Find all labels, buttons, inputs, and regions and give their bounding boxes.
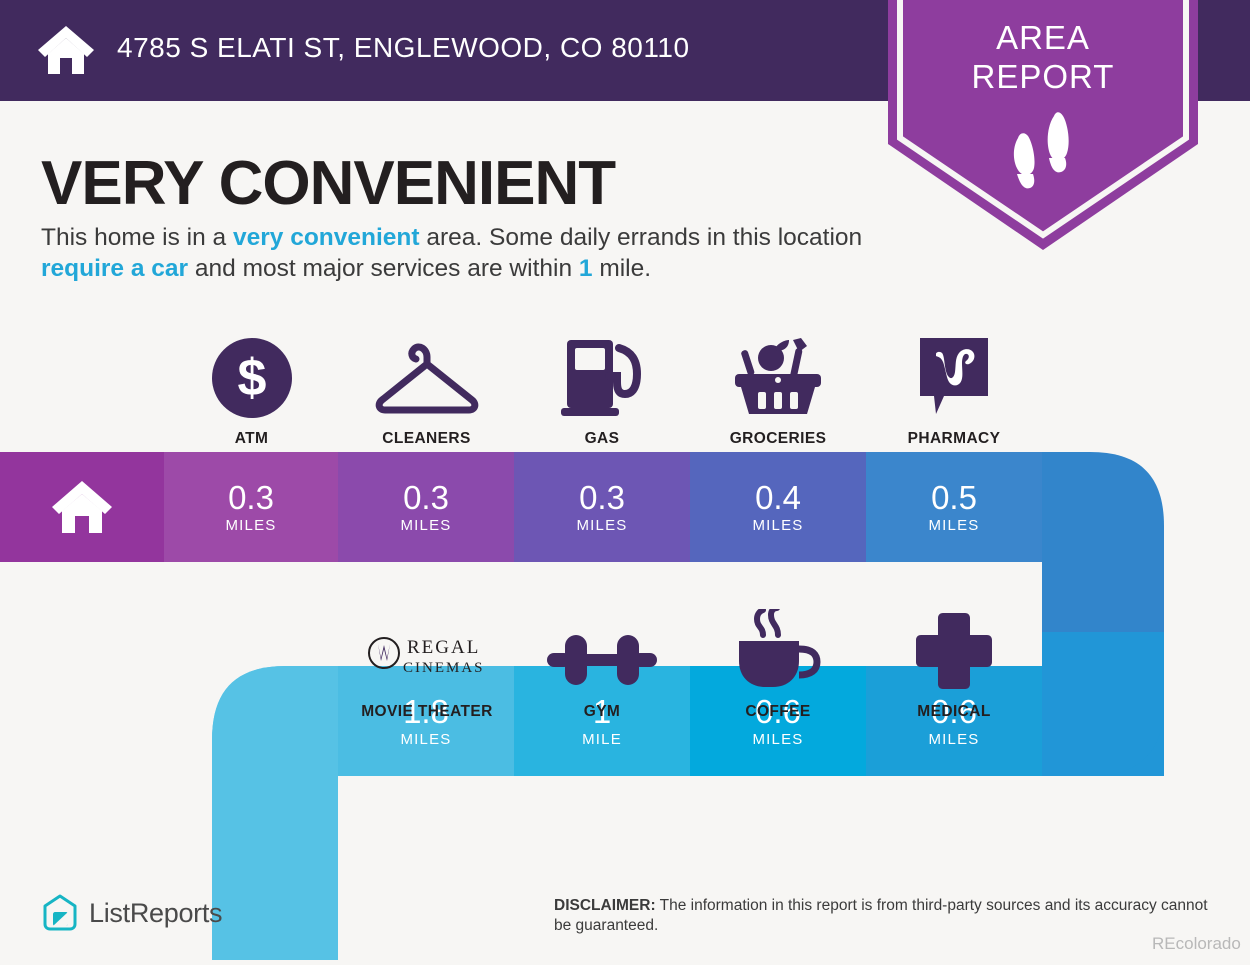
distance-value: 0.3 — [579, 481, 625, 515]
svg-text:CINEMAS: CINEMAS — [403, 660, 485, 676]
amenity-label: COFFEE — [745, 703, 810, 721]
medical-cross-icon — [914, 611, 994, 691]
atm-dollar-icon: $ — [212, 338, 292, 418]
amenity-label: MOVIE THEATER — [361, 703, 493, 721]
regal-cinemas-icon: REGAL CINEMAS — [367, 631, 487, 691]
right-connector-upper — [1042, 562, 1164, 632]
summary-part-4: mile. — [593, 255, 652, 282]
distance-cell-gas: 0.3 MILES — [514, 452, 690, 562]
grocery-basket-icon — [731, 332, 825, 418]
distance-unit: MILES — [225, 517, 276, 534]
listreports-logo: ListReports — [42, 893, 222, 933]
distance-unit: MILES — [576, 517, 627, 534]
amenity-gym: GYM — [514, 605, 690, 721]
distance-value: 0.3 — [403, 481, 449, 515]
amenity-cleaners: CLEANERS — [339, 332, 514, 448]
area-report-badge: AREA REPORT — [888, 0, 1198, 254]
summary-emphasis-3: 1 — [579, 255, 593, 282]
distance-unit: MILES — [928, 731, 979, 748]
home-icon — [36, 24, 96, 76]
amenity-groceries: GROCERIES — [690, 332, 866, 448]
distance-value: 0.4 — [755, 481, 801, 515]
badge-title-line1: AREA — [888, 18, 1198, 57]
badge-title: AREA REPORT — [888, 18, 1198, 96]
amenity-movie-theater: REGAL CINEMAS MOVIE THEATER — [340, 605, 514, 721]
watermark: REcolorado — [1152, 934, 1241, 954]
distance-cell-cleaners: 0.3 MILES — [338, 452, 514, 562]
disclaimer-label: DISCLAIMER: — [554, 897, 656, 914]
footprints-icon — [1010, 112, 1076, 192]
amenity-label: GAS — [585, 430, 620, 448]
distance-unit: MILES — [752, 731, 803, 748]
distance-cell-pharmacy: 0.5 MILES — [866, 452, 1042, 562]
amenity-label: ATM — [235, 430, 269, 448]
summary-emphasis-2: require a car — [41, 255, 188, 282]
distance-unit: MILE — [582, 731, 622, 748]
distance-value: 0.5 — [931, 481, 977, 515]
amenity-label: GYM — [584, 703, 621, 721]
summary-part-1: This home is in a — [41, 224, 233, 251]
amenity-icons-row-1: $ ATM CLEANERS GAS — [164, 332, 1042, 448]
amenity-label: MEDICAL — [917, 703, 990, 721]
property-address: 4785 S ELATI ST, ENGLEWOOD, CO 80110 — [117, 32, 690, 64]
gas-pump-icon — [559, 336, 645, 418]
amenity-label: CLEANERS — [382, 430, 470, 448]
page-title: VERY CONVENIENT — [41, 148, 615, 219]
listreports-name: ListReports — [89, 898, 222, 929]
disclaimer: DISCLAIMER: The information in this repo… — [554, 896, 1214, 936]
distance-unit: MILES — [928, 517, 979, 534]
home-marker-icon — [50, 479, 114, 535]
amenity-label: GROCERIES — [730, 430, 827, 448]
badge-title-line2: REPORT — [888, 57, 1198, 96]
walgreens-w-icon — [914, 334, 994, 418]
distance-unit: MILES — [400, 731, 451, 748]
distance-unit: MILES — [752, 517, 803, 534]
amenity-gas: GAS — [514, 332, 690, 448]
left-connector-inner-round — [306, 818, 338, 960]
amenity-label: PHARMACY — [908, 430, 1001, 448]
distance-value: 0.3 — [228, 481, 274, 515]
distance-unit: MILES — [400, 517, 451, 534]
coffee-cup-icon — [733, 609, 823, 691]
hanger-icon — [372, 338, 482, 418]
svg-text:REGAL: REGAL — [407, 637, 480, 658]
summary-part-2: area. Some daily errands in this locatio… — [420, 224, 863, 251]
summary-text: This home is in a very convenient area. … — [41, 222, 896, 284]
amenity-icons-row-2: REGAL CINEMAS MOVIE THEATER GYM — [340, 605, 1042, 721]
distance-cell-atm: 0.3 MILES — [164, 452, 338, 562]
amenity-atm: $ ATM — [164, 332, 339, 448]
amenity-pharmacy: PHARMACY — [866, 332, 1042, 448]
amenity-coffee: COFFEE — [690, 605, 866, 721]
summary-part-3: and most major services are within — [188, 255, 579, 282]
listreports-house-icon — [42, 893, 78, 933]
svg-text:$: $ — [237, 349, 266, 407]
summary-emphasis-1: very convenient — [233, 224, 420, 251]
right-connector-round — [1042, 632, 1164, 776]
dumbbell-icon — [547, 629, 657, 691]
amenity-medical: MEDICAL — [866, 605, 1042, 721]
distance-cell-groceries: 0.4 MILES — [690, 452, 866, 562]
